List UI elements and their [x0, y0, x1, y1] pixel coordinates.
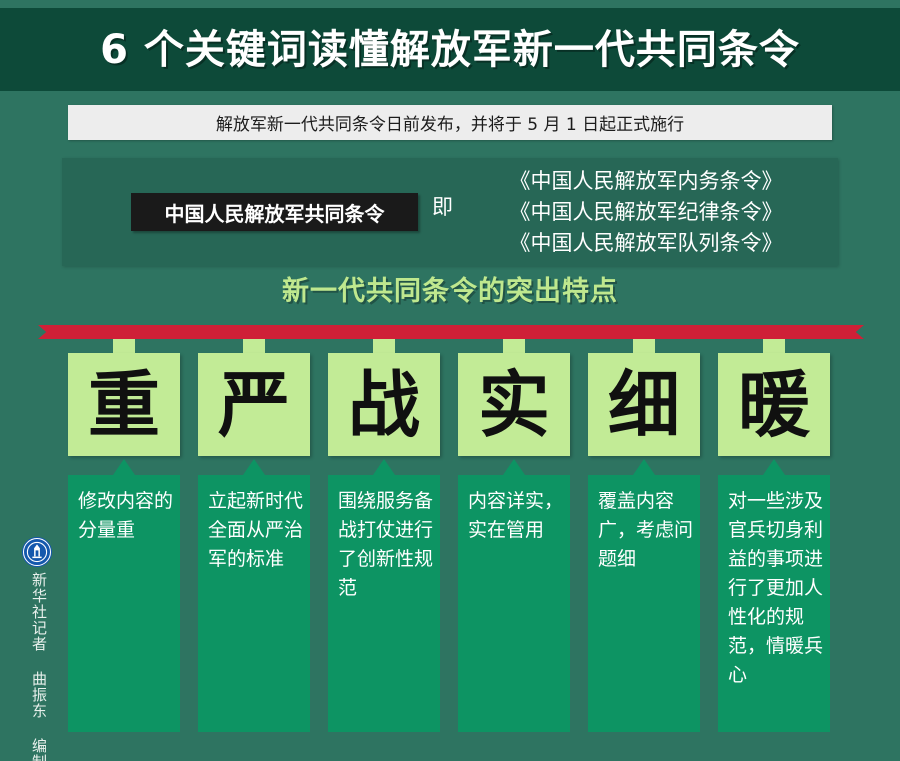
definition-tag: 中国人民解放军共同条令: [131, 193, 418, 231]
keyword-glyph: 严: [218, 369, 290, 441]
card-tab: [503, 339, 525, 353]
xinhua-logo-icon: [23, 538, 51, 566]
keyword-glyph: 细: [608, 369, 680, 441]
keyword-glyph: 重: [88, 369, 160, 441]
definition-list-item: 《中国人民解放军纪律条令》: [466, 197, 826, 228]
description-text: 覆盖内容广，考虑问题细: [598, 487, 694, 574]
card-face: 重: [68, 353, 180, 456]
description-column: 立起新时代全面从严治军的标准: [198, 459, 310, 732]
description-column: 围绕服务备战打仗进行了创新性规范: [328, 459, 440, 732]
red-ribbon-divider: [38, 325, 864, 339]
card-face: 实: [458, 353, 570, 456]
card-tab: [633, 339, 655, 353]
keyword-card-row: 重 严 战 实 细: [0, 339, 900, 459]
keyword-glyph: 战: [348, 369, 420, 441]
infographic-root: 6 个关键词读懂解放军新一代共同条令 解放军新一代共同条令日前发布，并将于 5 …: [0, 0, 900, 761]
card-face: 战: [328, 353, 440, 456]
credit-text: 新华社记者 曲振东 编制: [24, 572, 48, 761]
description-column: 修改内容的分量重: [68, 459, 180, 732]
keyword-card[interactable]: 重: [68, 339, 180, 456]
definition-list-item: 《中国人民解放军内务条令》: [466, 166, 826, 197]
card-face: 暖: [718, 353, 830, 456]
card-tab: [763, 339, 785, 353]
keyword-card[interactable]: 细: [588, 339, 700, 456]
page-title: 6 个关键词读懂解放军新一代共同条令: [0, 8, 900, 91]
description-column: 覆盖内容广，考虑问题细: [588, 459, 700, 732]
definition-list: 《中国人民解放军内务条令》 《中国人民解放军纪律条令》 《中国人民解放军队列条令…: [466, 166, 826, 259]
keyword-card[interactable]: 实: [458, 339, 570, 456]
keyword-glyph: 暖: [738, 369, 810, 441]
description-text: 立起新时代全面从严治军的标准: [208, 487, 304, 574]
description-column: 内容详实，实在管用: [458, 459, 570, 732]
description-column: 对一些涉及官兵切身利益的事项进行了更加人性化的规范，情暖兵心: [718, 459, 830, 732]
card-tab: [373, 339, 395, 353]
keyword-card[interactable]: 战: [328, 339, 440, 456]
card-tab: [243, 339, 265, 353]
section-heading: 新一代共同条令的突出特点: [0, 278, 900, 305]
card-face: 严: [198, 353, 310, 456]
description-text: 内容详实，实在管用: [468, 487, 564, 545]
definition-list-item: 《中国人民解放军队列条令》: [466, 228, 826, 259]
card-face: 细: [588, 353, 700, 456]
keyword-card[interactable]: 暖: [718, 339, 830, 456]
subtitle-banner: 解放军新一代共同条令日前发布，并将于 5 月 1 日起正式施行: [68, 105, 832, 140]
definition-connector: 即: [432, 197, 453, 218]
keyword-glyph: 实: [478, 369, 550, 441]
description-column-row: 修改内容的分量重 立起新时代全面从严治军的标准 围绕服务备战打仗进行了创新性规范…: [0, 459, 900, 734]
description-text: 围绕服务备战打仗进行了创新性规范: [338, 487, 434, 603]
card-tab: [113, 339, 135, 353]
description-text: 修改内容的分量重: [78, 487, 174, 545]
keyword-card[interactable]: 严: [198, 339, 310, 456]
description-text: 对一些涉及官兵切身利益的事项进行了更加人性化的规范，情暖兵心: [728, 487, 824, 690]
